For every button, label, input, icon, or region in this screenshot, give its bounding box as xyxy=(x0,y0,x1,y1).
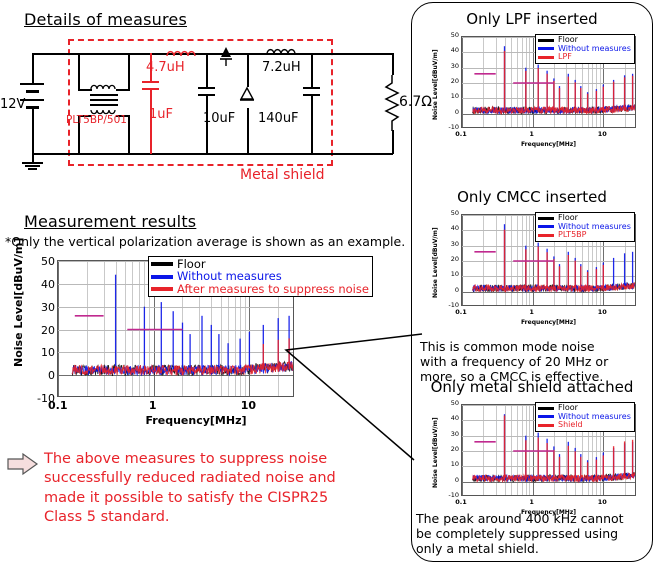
legend-color-swatch xyxy=(538,415,554,418)
x-axis-label: Frequency[MHz] xyxy=(146,414,206,427)
y-axis-tick: 50 xyxy=(446,400,459,407)
legend-item: Shield xyxy=(538,421,631,430)
y-axis-label: Noise Level[dBuV/m] xyxy=(12,237,25,366)
source-label: 12V xyxy=(0,98,25,111)
y-axis-tick: 0 xyxy=(446,477,459,484)
legend-item: LPF xyxy=(538,53,631,62)
wire-bottom xyxy=(32,153,332,155)
cap1-label: 1uF xyxy=(149,108,173,121)
chart-legend: FloorWithout measuresShield xyxy=(535,402,635,432)
x-axis-label: Frequency[MHz] xyxy=(519,141,579,148)
y-axis-tick: 10 xyxy=(446,93,459,100)
caption-cmcc-line-1: This is common mode noise xyxy=(420,340,652,355)
circuit-schematic: 12V PLT5BP/501 1uF 4.7uH xyxy=(0,30,420,180)
wire-cap2-top xyxy=(206,53,208,87)
diode-shunt xyxy=(238,85,256,109)
wire-cap1-bottom xyxy=(150,90,152,154)
chart-only-cmcc: 50403020100-100.1110Frequency[MHz]Noise … xyxy=(425,210,640,330)
wire-cap3-top xyxy=(311,53,313,87)
y-axis-tick: 30 xyxy=(35,302,55,313)
legend-item: Without measures xyxy=(151,270,369,282)
x-axis-tick: 1 xyxy=(523,309,541,316)
x-axis-tick: 10 xyxy=(593,499,611,506)
legend-label: After measures to suppress noise xyxy=(177,283,369,295)
legend-item: After measures to suppress noise xyxy=(151,283,369,295)
resistor-load xyxy=(385,75,400,131)
caption-shield-line-1: The peak around 400 kHz cannot xyxy=(416,512,652,527)
y-axis-tick: 50 xyxy=(35,256,55,267)
common-mode-choke xyxy=(78,53,130,154)
y-axis-tick: 20 xyxy=(446,78,459,85)
cap2-label: 10uF xyxy=(203,112,235,125)
wire-diode-bottom xyxy=(247,108,249,154)
chart-legend: FloorWithout measuresPLT5BP xyxy=(535,212,635,242)
legend-label: PLT5BP xyxy=(558,231,586,240)
panel-title-cmcc: Only CMCC inserted xyxy=(411,188,653,206)
conclusion-line-2: successfully reduced radiated noise and xyxy=(44,469,344,488)
y-axis-tick: 10 xyxy=(446,271,459,278)
legend-item: Without measures xyxy=(538,45,631,54)
legend-label: Without measures xyxy=(177,270,282,282)
x-axis-tick: 10 xyxy=(593,131,611,138)
caption-cmcc-line-2: with a frequency of 20 MHz or xyxy=(420,355,652,370)
y-axis-tick: 40 xyxy=(35,279,55,290)
y-axis-tick: 50 xyxy=(446,210,459,217)
x-axis-tick: 10 xyxy=(239,400,257,411)
y-axis-tick: 10 xyxy=(446,461,459,468)
conclusion-line-3: made it possible to satisfy the CISPR25 xyxy=(44,489,344,508)
y-axis-tick: 30 xyxy=(446,63,459,70)
legend-color-swatch xyxy=(538,39,554,42)
legend-item: PLT5BP xyxy=(538,231,631,240)
y-axis-label: Noise Level[dBuV/m] xyxy=(432,227,439,298)
chart-only-shield: 50403020100-100.1110Frequency[MHz]Noise … xyxy=(425,400,640,520)
wire-load-top xyxy=(392,53,394,75)
x-axis-tick: 0.1 xyxy=(452,131,470,138)
y-axis-tick: 20 xyxy=(35,325,55,336)
inductor-4.7uH xyxy=(166,47,196,57)
cap3-label: 140uF xyxy=(258,112,299,125)
y-axis-tick: 40 xyxy=(446,415,459,422)
x-axis-label: Frequency[MHz] xyxy=(519,319,579,326)
y-axis-tick: 0 xyxy=(35,370,55,381)
panel-title-shield: Only metal shield attached xyxy=(411,378,653,396)
metal-shield-label: Metal shield xyxy=(240,168,325,182)
legend-color-swatch xyxy=(151,287,173,291)
legend-color-swatch xyxy=(538,56,554,59)
x-axis-tick: 0.1 xyxy=(48,400,66,411)
inductor2-label: 7.2uH xyxy=(262,61,301,74)
y-axis-tick: 30 xyxy=(446,431,459,438)
chart-legend: FloorWithout measuresLPF xyxy=(535,34,635,64)
wire-load-bottom xyxy=(392,130,394,154)
legend-color-swatch xyxy=(538,424,554,427)
x-axis-tick: 0.1 xyxy=(452,499,470,506)
legend-color-swatch xyxy=(538,225,554,228)
caption-shield-line-3: only a metal shield. xyxy=(416,542,652,557)
caption-shield-line-2: be completely suppressed using xyxy=(416,527,652,542)
legend-color-swatch xyxy=(538,47,554,50)
y-axis-label: Noise Level[dBuV/m] xyxy=(432,417,439,488)
legend-color-swatch xyxy=(538,217,554,220)
x-axis-tick: 0.1 xyxy=(452,309,470,316)
wire-cap3-bottom xyxy=(311,96,313,154)
results-note: *Only the vertical polarization average … xyxy=(5,234,405,249)
results-title: Measurement results xyxy=(24,212,196,231)
y-axis-tick: 10 xyxy=(35,347,55,358)
wire-source-top xyxy=(32,53,34,83)
cmcc-label: PLT5BP/501 xyxy=(66,115,127,126)
wire-top-right xyxy=(284,53,394,55)
diode-top xyxy=(218,45,234,67)
caption-shield: The peak around 400 kHz cannot be comple… xyxy=(416,512,652,556)
legend-color-swatch xyxy=(538,234,554,237)
y-axis-tick: 30 xyxy=(446,241,459,248)
chart-legend: FloorWithout measuresAfter measures to s… xyxy=(148,256,373,297)
legend-item: Without measures xyxy=(538,413,631,422)
y-axis-tick: 0 xyxy=(446,287,459,294)
panel-title-lpf: Only LPF inserted xyxy=(411,10,653,28)
legend-color-swatch xyxy=(538,407,554,410)
wire-source-bottom xyxy=(32,106,34,154)
y-axis-label: Noise Level[dBuV/m] xyxy=(432,49,439,120)
right-arrow-icon xyxy=(7,452,39,476)
page-title: Details of measures xyxy=(24,10,187,29)
wire-diode-top xyxy=(247,53,249,87)
legend-label: LPF xyxy=(558,53,572,62)
x-axis-tick: 10 xyxy=(593,309,611,316)
y-axis-tick: 50 xyxy=(446,32,459,39)
y-axis-tick: 40 xyxy=(446,225,459,232)
legend-color-swatch xyxy=(151,275,173,279)
inductor-7.2uH xyxy=(266,45,296,55)
legend-color-swatch xyxy=(151,262,173,266)
legend-label: Shield xyxy=(558,421,583,430)
chart-measurement-results: 50403020100-100.1110Frequency[MHz]Noise … xyxy=(0,252,300,427)
x-axis-tick: 1 xyxy=(523,499,541,506)
callout-pointer xyxy=(284,332,424,462)
conclusion-line-4: Class 5 standard. xyxy=(44,508,344,527)
chart-only-lpf: 50403020100-100.1110Frequency[MHz]Noise … xyxy=(425,32,640,152)
y-axis-tick: 20 xyxy=(446,446,459,453)
y-axis-tick: 20 xyxy=(446,256,459,263)
y-axis-tick: 0 xyxy=(446,109,459,116)
x-axis-tick: 1 xyxy=(523,131,541,138)
x-axis-tick: 1 xyxy=(144,400,162,411)
y-axis-tick: 40 xyxy=(446,47,459,54)
wire-bottom-right xyxy=(332,153,393,155)
inductor1-label: 4.7uH xyxy=(146,61,185,74)
